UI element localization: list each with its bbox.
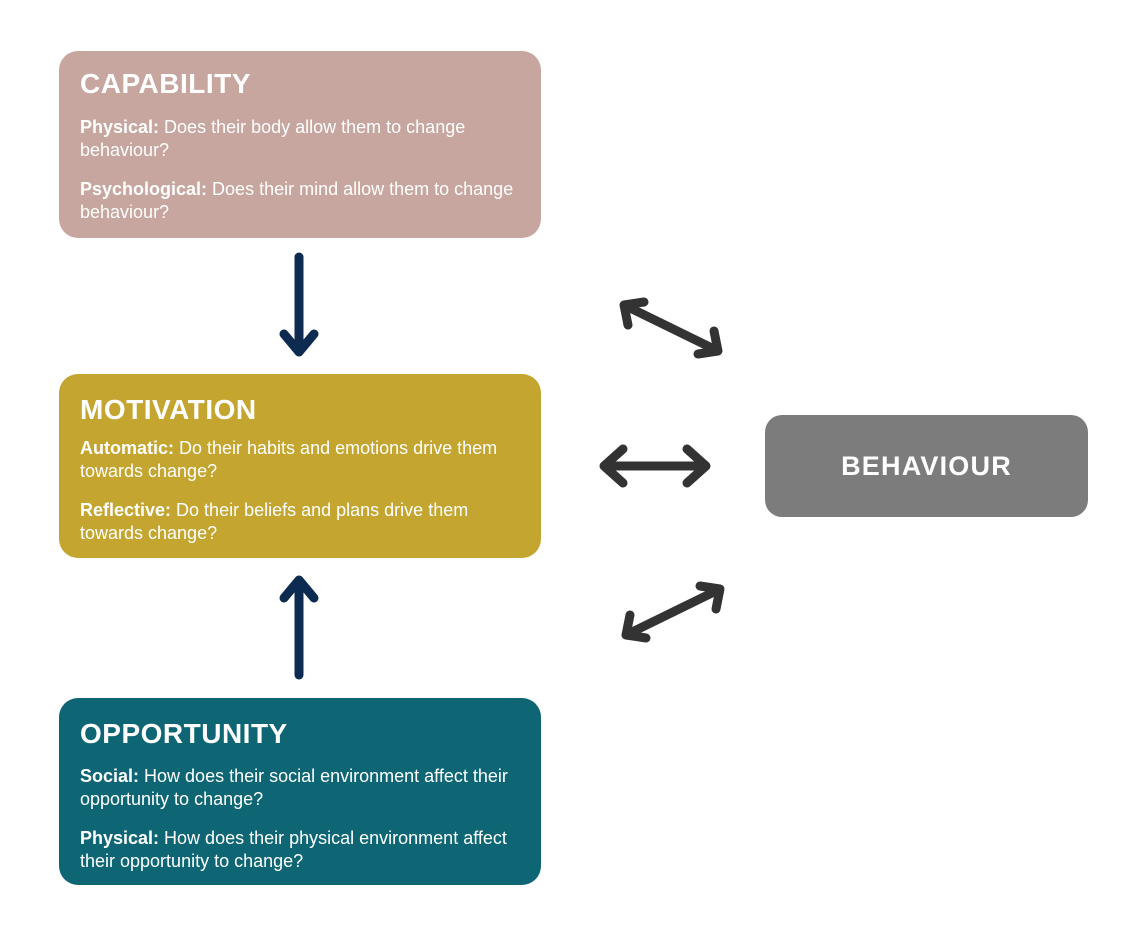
arrow-motivation-to-behaviour-icon <box>592 440 718 492</box>
capability-title: CAPABILITY <box>80 70 519 98</box>
capability-item-physical: Physical: Does their body allow them to … <box>80 116 519 161</box>
motivation-item-automatic: Automatic: Do their habits and emotions … <box>80 437 519 482</box>
opportunity-item-social-label: Social: <box>80 766 139 786</box>
capability-item-physical-label: Physical: <box>80 117 159 137</box>
arrow-opportunity-to-behaviour-icon <box>614 576 734 648</box>
opportunity-item-social: Social: How does their social environmen… <box>80 765 519 810</box>
arrow-capability-to-behaviour-icon <box>612 292 732 364</box>
behaviour-card: BEHAVIOUR <box>765 415 1088 517</box>
capability-item-psychological: Psychological: Does their mind allow the… <box>80 178 519 223</box>
motivation-item-reflective: Reflective: Do their beliefs and plans d… <box>80 499 519 544</box>
opportunity-title: OPPORTUNITY <box>80 720 519 748</box>
capability-item-psychological-label: Psychological: <box>80 179 207 199</box>
capability-card: CAPABILITY Physical: Does their body all… <box>59 51 541 238</box>
motivation-item-reflective-label: Reflective: <box>80 500 171 520</box>
arrow-opportunity-to-motivation-icon <box>270 568 328 684</box>
com-b-diagram: CAPABILITY Physical: Does their body all… <box>0 0 1146 937</box>
motivation-title: MOTIVATION <box>80 396 519 424</box>
opportunity-card: OPPORTUNITY Social: How does their socia… <box>59 698 541 885</box>
arrow-capability-to-motivation-icon <box>270 248 328 364</box>
opportunity-item-social-text: How does their social environment affect… <box>80 766 508 809</box>
opportunity-item-physical: Physical: How does their physical enviro… <box>80 827 519 872</box>
behaviour-title: BEHAVIOUR <box>841 451 1012 482</box>
motivation-card: MOTIVATION Automatic: Do their habits an… <box>59 374 541 558</box>
motivation-item-automatic-label: Automatic: <box>80 438 174 458</box>
opportunity-item-physical-label: Physical: <box>80 828 159 848</box>
